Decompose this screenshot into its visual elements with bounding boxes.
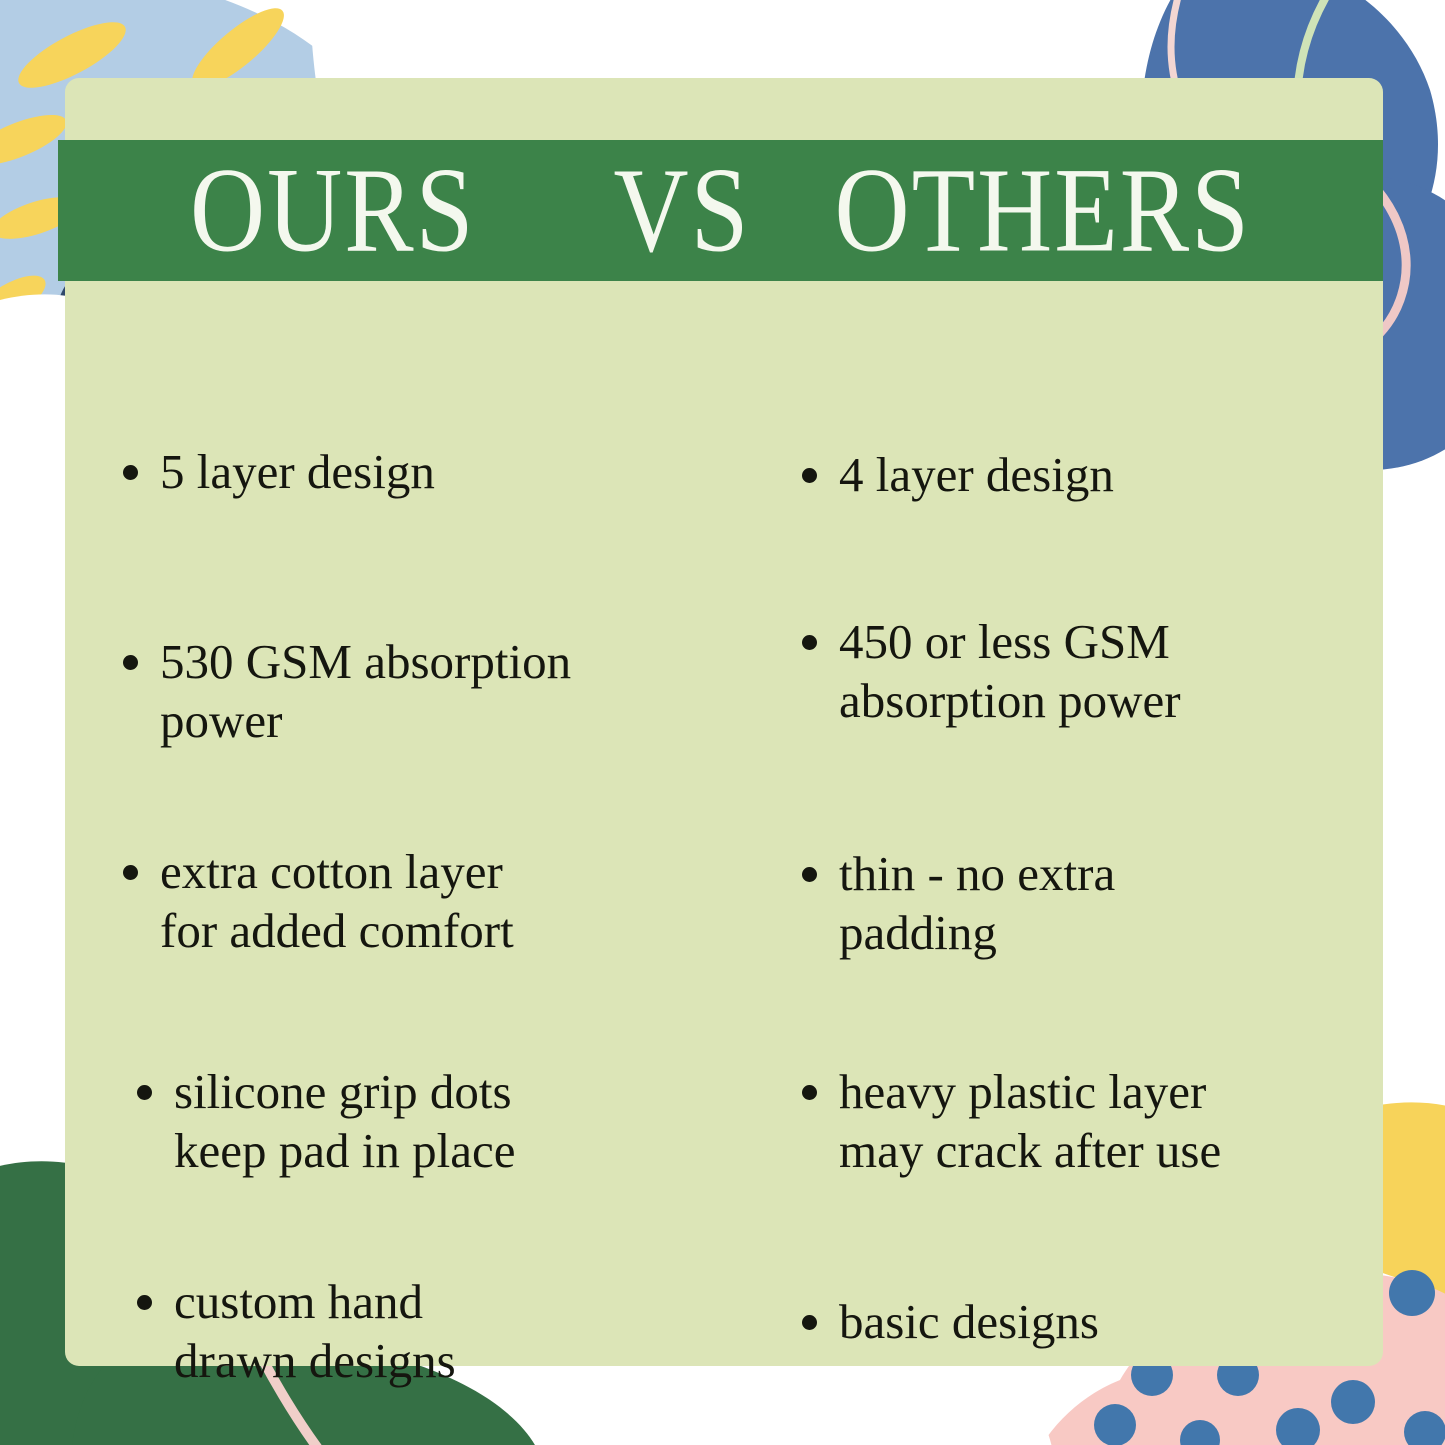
list-item: extra cotton layer for added comfort xyxy=(123,843,713,961)
bullet-dot-icon xyxy=(123,465,138,480)
list-item: 450 or less GSM absorption power xyxy=(802,613,1362,731)
list-item-label: 4 layer design xyxy=(839,446,1114,505)
list-item: thin - no extra padding xyxy=(802,845,1362,963)
list-item: 530 GSM absorption power xyxy=(123,633,713,751)
bullet-dot-icon xyxy=(802,1085,817,1100)
bullet-dot-icon xyxy=(802,867,817,882)
list-item-label: 5 layer design xyxy=(160,443,435,502)
header-banner: OURS VS OTHERS xyxy=(58,140,1383,281)
bullet-dot-icon xyxy=(137,1295,152,1310)
bullet-dot-icon xyxy=(137,1085,152,1100)
bullet-dot-icon xyxy=(802,468,817,483)
comparison-card: OURS VS OTHERS 5 layer design 530 GSM ab… xyxy=(65,78,1383,1366)
list-item-label: heavy plastic layer may crack after use xyxy=(839,1063,1221,1181)
bullet-dot-icon xyxy=(123,865,138,880)
list-item: 4 layer design xyxy=(802,446,1362,505)
list-item: heavy plastic layer may crack after use xyxy=(802,1063,1382,1181)
column-others: 4 layer design 450 or less GSM absorptio… xyxy=(724,288,1383,1366)
list-item-label: thin - no extra padding xyxy=(839,845,1115,963)
bullet-dot-icon xyxy=(123,655,138,670)
list-item-label: basic designs xyxy=(839,1293,1099,1352)
column-ours: 5 layer design 530 GSM absorption power … xyxy=(65,288,724,1366)
list-item-label: silicone grip dots keep pad in place xyxy=(174,1063,515,1181)
list-item-label: extra cotton layer for added comfort xyxy=(160,843,514,961)
infographic-canvas: OURS VS OTHERS 5 layer design 530 GSM ab… xyxy=(0,0,1445,1445)
list-item-label: custom hand drawn designs xyxy=(174,1273,456,1391)
comparison-columns: 5 layer design 530 GSM absorption power … xyxy=(65,288,1383,1366)
list-item-label: 530 GSM absorption power xyxy=(160,633,571,751)
list-item-label: 450 or less GSM absorption power xyxy=(839,613,1181,731)
bullet-dot-icon xyxy=(802,1315,817,1330)
list-item: custom hand drawn designs xyxy=(137,1273,697,1391)
page-title: OURS VS OTHERS xyxy=(190,150,1251,271)
list-item: silicone grip dots keep pad in place xyxy=(137,1063,727,1181)
list-item: basic designs xyxy=(802,1293,1362,1352)
list-item: 5 layer design xyxy=(123,443,683,502)
white-gap-decor xyxy=(995,1380,1056,1445)
bullet-dot-icon xyxy=(802,635,817,650)
